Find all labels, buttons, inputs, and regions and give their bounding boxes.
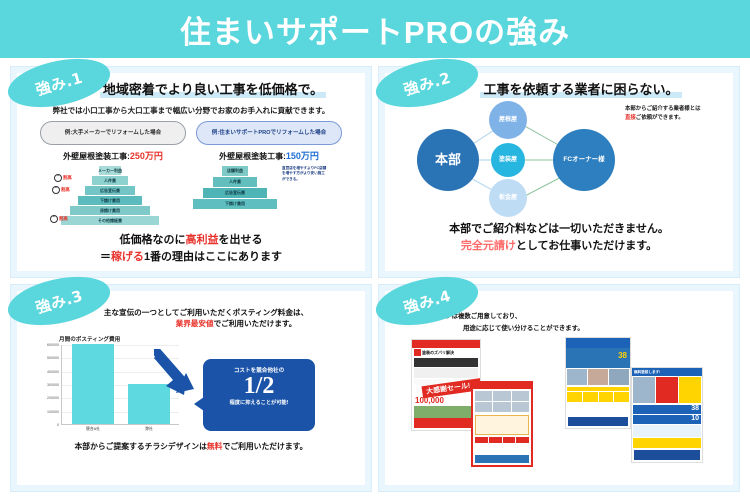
- flyer-1-photo: [414, 406, 478, 418]
- p3-title-red: 業界最安値: [176, 319, 214, 328]
- xlabel-1: 弊社: [145, 427, 153, 432]
- p2-concl-b: としてお仕事いただけます。: [516, 240, 657, 252]
- flyer-3-tags: [567, 392, 629, 402]
- pyr-l-layer-4: 孫請け費用: [70, 206, 150, 215]
- flyer-3-hero: 38: [566, 348, 630, 368]
- thumb: [512, 402, 529, 412]
- infographic-page: 住まいサポートPROの強み 強み.1 地域密着でより良い工事を低価格で。 弊社で…: [0, 0, 750, 500]
- pyramid-left: メーカー利益 人件費 広告宣伝費 下請け費用 孫請け費用 その他諸経費 ˘ 割高: [60, 166, 170, 226]
- flyer-3-header: [566, 338, 630, 348]
- pyr-r-layer-3: 下請け費用: [193, 199, 277, 209]
- badge-label: 強み.2: [401, 66, 453, 99]
- badge-block: [656, 377, 678, 403]
- flyer-1-band: [414, 358, 478, 367]
- network-diagram: 本部 屋根屋 塗装屋 板金屋 FCオーナー様 本部からご紹介する業者様とは 直接…: [393, 101, 725, 219]
- flyer-2-footer: [475, 455, 529, 463]
- concl-1b: を出せる: [219, 234, 263, 246]
- ytick-5: 500000: [47, 356, 59, 360]
- marker-2: ˘ 割高: [50, 215, 68, 223]
- ytick-3: 300000: [47, 383, 59, 387]
- flyer-3-price: 38: [618, 351, 627, 360]
- p4-lead-2: 用途に応じて使い分けることができます。: [463, 323, 725, 335]
- marker-0-label: 割高: [63, 175, 72, 181]
- comparison-caption-a: 例:大手メーカーでリフォームした場合: [40, 121, 186, 145]
- pyr-l-layer-5: その他諸経費: [61, 216, 159, 225]
- bar-chart: 0 100000 200000 300000 400000 500000 600…: [31, 345, 191, 437]
- tag: [567, 392, 582, 402]
- flyer-4-strip: [633, 438, 701, 448]
- flyer-4-price-2: 10: [691, 415, 699, 422]
- badge-block: [679, 377, 701, 403]
- flyer-4-hero: [632, 376, 702, 404]
- comparison-caption-b: 例:住まいサポートPROでリフォームした場合: [196, 121, 342, 145]
- net-note-red: 直接: [625, 115, 636, 121]
- flyer-4-footer: [634, 450, 700, 460]
- flyer-3-strip: [567, 387, 629, 391]
- node-fc-owner: FCオーナー様: [553, 129, 615, 191]
- thumb: [512, 391, 529, 401]
- net-note-a: 本部からご紹介する業者様とは: [625, 106, 700, 112]
- node-yaneya: 屋根屋: [489, 101, 527, 139]
- flyer-1-header: [412, 340, 480, 348]
- flyer-1-headline-row: 塗装のズバリ解決: [412, 348, 480, 357]
- pyramid-right: 店舗利益 人件費 広告宣伝費 下請け費用 直営店を増やすよりFC店舗を増やす方が…: [192, 166, 322, 226]
- flyer-4-row2: 10: [633, 415, 701, 424]
- concl-2-red: 稼げる: [111, 251, 144, 263]
- flyer-2-tags: [475, 437, 529, 443]
- tag: [475, 437, 488, 443]
- badge-label: 強み.4: [401, 284, 453, 317]
- tag: [503, 437, 516, 443]
- pyramid-right-stack: 店舗利益 人件費 広告宣伝費 下請け費用: [192, 166, 278, 209]
- tag: [489, 437, 502, 443]
- pyr-r-layer-1: 人件費: [213, 177, 257, 187]
- pyr-r-layer-2: 広告宣伝費: [203, 188, 267, 198]
- chart-area: 0 100000 200000 300000 400000 500000 600…: [25, 345, 357, 437]
- pyr-r-layer-0: 店舗利益: [222, 166, 248, 176]
- network-note: 本部からご紹介する業者様とは 直接ご依頼ができます。: [625, 105, 729, 123]
- panel-2-title: 工事を依頼する業者に困らない。: [480, 79, 681, 98]
- thumb: [475, 402, 492, 412]
- p3-foot-a: 本部からご提案するチラシデザインは: [75, 442, 207, 451]
- marker-2-label: 割高: [59, 216, 68, 222]
- flyer-logo-icon: [414, 349, 421, 356]
- panel-2-conclusion: 本部でご紹介料などは一切いただきません。 完全元請けとしてお仕事いただけます。: [393, 221, 725, 255]
- pyr-l-layer-1: 人件費: [92, 176, 128, 185]
- comparison-price-a: 外壁屋根塗装工事:250万円: [40, 149, 186, 162]
- tag: [516, 437, 529, 443]
- photo: [588, 369, 608, 385]
- net-note-b: ご依頼ができます。: [636, 115, 684, 121]
- p2-concl-red: 完全元請け: [461, 240, 516, 252]
- comparison-col-b: 例:住まいサポートPROでリフォームした場合 外壁屋根塗装工事:150万円: [196, 121, 342, 162]
- xlabel-0: 競合A社: [86, 427, 100, 432]
- p2-concl-line-2: 完全元請けとしてお仕事いただけます。: [393, 238, 725, 255]
- ytick-0: 0: [57, 423, 59, 427]
- flyer-3: 38: [565, 337, 631, 429]
- panel-strength-1: 強み.1 地域密着でより良い工事を低価格で。 弊社では小口工事から大口工事まで幅…: [10, 66, 372, 278]
- pyramid-right-note: 直営店を増やすよりFC店舗を増やす方がより安い施工ができる。: [282, 166, 328, 182]
- callout-bottom: 程度に抑えることが可能!: [203, 399, 315, 406]
- page-title: 住まいサポートPROの強み: [180, 7, 570, 52]
- ytick-4: 400000: [47, 370, 59, 374]
- y-axis: 0 100000 200000 300000 400000 500000 600…: [31, 345, 61, 425]
- bar-competitor: [72, 344, 114, 424]
- flyer-3-photos: [566, 368, 630, 386]
- concl-1-red: 高利益: [186, 234, 219, 246]
- flyer-4-box: [633, 425, 701, 437]
- marker-0: ˘ 割高: [54, 174, 72, 182]
- pyr-l-layer-0: メーカー利益: [99, 166, 121, 175]
- flyer-gallery: 塗装のズバリ解決 大感謝セール! 100,000: [393, 339, 725, 467]
- badge-label: 強み.1: [33, 66, 85, 99]
- flyer-3-footer: [568, 417, 628, 426]
- pyr-l-layer-3: 下請け費用: [78, 196, 142, 205]
- flyer-1-price: 100,000: [415, 396, 444, 405]
- chart-title: 月間のポスティング費用: [59, 335, 357, 343]
- thumb: [493, 391, 510, 401]
- photo: [633, 377, 655, 403]
- node-tosouya: 塗装屋: [491, 143, 525, 177]
- flyer-2-grid: [473, 389, 531, 414]
- node-honbu: 本部: [417, 129, 479, 191]
- node-bankinya: 板金屋: [489, 179, 527, 217]
- flyer-1-footer: [414, 418, 478, 428]
- badge-label: 強み.3: [33, 284, 85, 317]
- comparison-price-b: 外壁屋根塗装工事:150万円: [196, 149, 342, 162]
- pyramid-left-stack: メーカー利益 人件費 広告宣伝費 下請け費用 孫請け費用 その他諸経費: [60, 166, 160, 225]
- cost-callout: コストを競合他社の 1/2 程度に抑えることが可能!: [203, 359, 315, 431]
- flyer-4-header: 無料塗装します!: [632, 368, 702, 376]
- flyer-2: [471, 381, 533, 467]
- p3-foot-red: 無料: [207, 442, 223, 451]
- panel-1-conclusion: 低価格なのに高利益を出せる ＝稼げる1番の理由はここにあります: [25, 232, 357, 265]
- comparison-row: 例:大手メーカーでリフォームした場合 外壁屋根塗装工事:250万円 例:住まいサ…: [25, 121, 357, 162]
- comparison-col-a: 例:大手メーカーでリフォームした場合 外壁屋根塗装工事:250万円: [40, 121, 186, 162]
- concl-2b: 1番の理由はここにあります: [144, 251, 282, 263]
- flyer-1-headline: 塗装のズバリ解決: [422, 350, 454, 356]
- p3-foot-b: でご利用いただけます。: [222, 442, 307, 451]
- p2-concl-line-1: 本部でご紹介料などは一切いただきません。: [393, 221, 725, 238]
- panel-grid: 強み.1 地域密着でより良い工事を低価格で。 弊社では小口工事から大口工事まで幅…: [0, 58, 750, 500]
- panel-strength-4: 強み.4 チラシデザインは複数ご用意しており、 用途に応じて使い分けることができ…: [378, 284, 740, 492]
- concl-2a: ＝: [100, 251, 111, 263]
- panel-1-lead: 弊社では小口工事から大口工事まで幅広い分野でお家のお手入れに貢献できます。: [25, 105, 357, 116]
- page-header: 住まいサポートPROの強み: [0, 0, 750, 58]
- price-label-a: 外壁屋根塗装工事:: [63, 152, 130, 161]
- concl-1a: 低価格なのに: [120, 234, 186, 246]
- callout-big: 1/2: [203, 374, 315, 399]
- p3-title-line-1: 主な宣伝の一つとしてご利用いただくポスティング料金は、: [55, 307, 357, 318]
- price-value-a: 250万円: [130, 151, 163, 161]
- p3-title-b: でご利用いただけます。: [214, 319, 297, 328]
- thumb: [493, 402, 510, 412]
- flyer-1-text: [414, 368, 478, 378]
- ytick-1: 100000: [47, 410, 59, 414]
- conclusion-line-1: 低価格なのに高利益を出せる: [25, 232, 357, 249]
- photo: [609, 369, 629, 385]
- down-arrow-icon: [154, 349, 200, 399]
- price-value-b: 150万円: [286, 151, 319, 161]
- panel-1-title: 地域密着でより良い工事を低価格で。: [100, 79, 326, 98]
- sad-face-icon: ˘: [50, 215, 58, 223]
- thumb: [475, 391, 492, 401]
- marker-1: ˘ 割高: [52, 186, 70, 194]
- sad-face-icon: ˘: [52, 186, 60, 194]
- p3-title-line-2: 業界最安値でご利用いただけます。: [115, 318, 357, 329]
- marker-1-label: 割高: [61, 187, 70, 193]
- pyr-l-layer-2: 広告宣伝費: [85, 186, 135, 195]
- tag: [583, 392, 598, 402]
- tag: [599, 392, 614, 402]
- price-label-b: 外壁屋根塗装工事:: [219, 152, 286, 161]
- flyer-2-box: [475, 415, 529, 435]
- tag: [614, 392, 629, 402]
- ytick-2: 200000: [47, 396, 59, 400]
- flyer-4-headline: 無料塗装します!: [634, 370, 660, 375]
- ytick-6: 600000: [47, 343, 59, 347]
- conclusion-line-2: ＝稼げる1番の理由はここにあります: [25, 249, 357, 266]
- flyer-4: 無料塗装します! 38 10: [631, 367, 703, 463]
- panel-3-foot: 本部からご提案するチラシデザインは無料でご利用いただけます。: [25, 441, 357, 452]
- flyer-4-price: 38: [691, 405, 699, 412]
- plot-area: 競合A社 弊社: [61, 345, 179, 425]
- panel-strength-2: 強み.2 工事を依頼する業者に困らない。 本部 屋根屋: [378, 66, 740, 278]
- panel-strength-3: 強み.3 主な宣伝の一つとしてご利用いただくポスティング料金は、 業界最安値でご…: [10, 284, 372, 492]
- pyramid-row: メーカー利益 人件費 広告宣伝費 下請け費用 孫請け費用 その他諸経費 ˘ 割高: [25, 166, 357, 226]
- photo: [567, 369, 587, 385]
- sad-face-icon: ˘: [54, 174, 62, 182]
- flyer-4-row1: 38: [633, 405, 701, 414]
